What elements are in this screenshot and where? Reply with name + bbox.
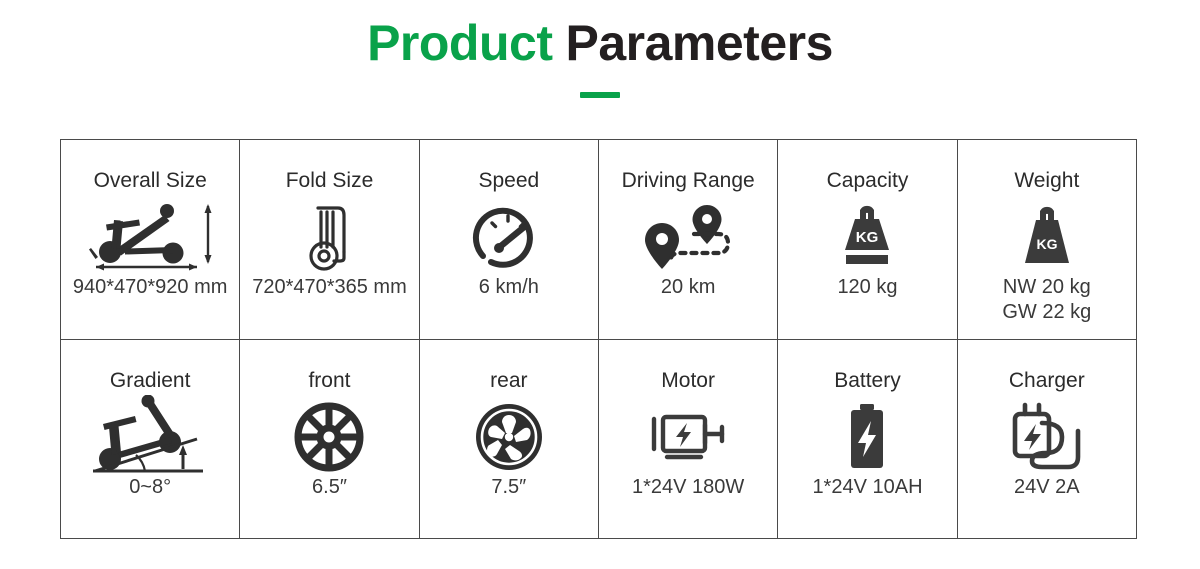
spec-label: front <box>308 368 350 393</box>
spec-cell-driving-range: Driving Range 20 km <box>598 140 777 339</box>
svg-text:KG: KG <box>1036 236 1057 252</box>
spec-cell-overall-size: Overall Size <box>61 140 239 339</box>
spec-value: 120 kg <box>837 275 897 300</box>
spec-cell-fold-size: Fold Size 720*470*365 mm <box>239 140 418 339</box>
scooter-dimensions-icon <box>80 199 220 275</box>
spec-cell-motor: Motor 1*24V 180W <box>598 340 777 539</box>
spec-label: rear <box>490 368 527 393</box>
spec-value: 6 km/h <box>479 275 539 300</box>
spec-value: 24V 2A <box>1014 475 1080 500</box>
spec-label: Battery <box>834 368 901 393</box>
spec-label: Driving Range <box>622 168 755 193</box>
page-title: ProductParameters <box>0 0 1200 74</box>
specification-table: Overall Size <box>60 139 1137 539</box>
spec-label: Weight <box>1014 168 1079 193</box>
spec-label: Speed <box>478 168 539 193</box>
spec-label: Gradient <box>110 368 191 393</box>
svg-text:KG: KG <box>856 229 879 246</box>
spec-value: 7.5″ <box>491 475 526 500</box>
spec-value-line1: NW 20 kg <box>1002 275 1091 300</box>
spec-value: 720*470*365 mm <box>252 275 407 300</box>
spec-cell-gradient: Gradient <box>61 340 239 539</box>
spec-value: NW 20 kgGW 22 kg <box>1002 275 1091 325</box>
spec-value: 0~8° <box>129 475 171 500</box>
spoked-wheel-icon <box>294 399 364 475</box>
product-parameters-page: ProductParameters Overall Size <box>0 0 1200 569</box>
spec-label: Fold Size <box>286 168 374 193</box>
alloy-wheel-icon <box>473 399 545 475</box>
title-underline-divider <box>580 92 620 98</box>
page-title-rest: Parameters <box>565 15 832 71</box>
spec-value: 1*24V 10AH <box>812 475 922 500</box>
route-pins-icon <box>640 199 736 275</box>
spec-label: Overall Size <box>94 168 207 193</box>
speedometer-icon <box>472 199 546 275</box>
charger-plug-icon <box>1006 399 1088 475</box>
table-row: Gradient <box>61 339 1136 539</box>
spec-value: 20 km <box>661 275 715 300</box>
spec-value: 6.5″ <box>312 475 347 500</box>
folded-scooter-icon <box>294 199 364 275</box>
spec-cell-front-wheel: front <box>239 340 418 539</box>
table-row: Overall Size <box>61 140 1136 339</box>
spec-label: Charger <box>1009 368 1085 393</box>
scooter-incline-icon <box>85 399 215 475</box>
spec-cell-charger: Charger 24V 2A <box>957 340 1136 539</box>
spec-value: 1*24V 180W <box>632 475 744 500</box>
spec-value-line2: GW 22 kg <box>1002 300 1091 325</box>
page-header: ProductParameters <box>0 0 1200 120</box>
kg-weight-platform-icon: KG <box>827 199 907 275</box>
spec-value: 940*470*920 mm <box>73 275 228 300</box>
spec-cell-weight: Weight KG NW 20 kgGW 22 kg <box>957 140 1136 339</box>
spec-cell-battery: Battery 1*24V 10AH <box>777 340 956 539</box>
spec-cell-capacity: Capacity KG 120 kg <box>777 140 956 339</box>
spec-label: Capacity <box>827 168 909 193</box>
kg-weight-icon: KG <box>1011 199 1083 275</box>
battery-icon <box>843 399 891 475</box>
spec-cell-speed: Speed <box>419 140 598 339</box>
page-title-highlight: Product <box>367 15 552 71</box>
spec-label: Motor <box>661 368 715 393</box>
spec-cell-rear-wheel: rear <box>419 340 598 539</box>
electric-motor-icon <box>643 399 733 475</box>
